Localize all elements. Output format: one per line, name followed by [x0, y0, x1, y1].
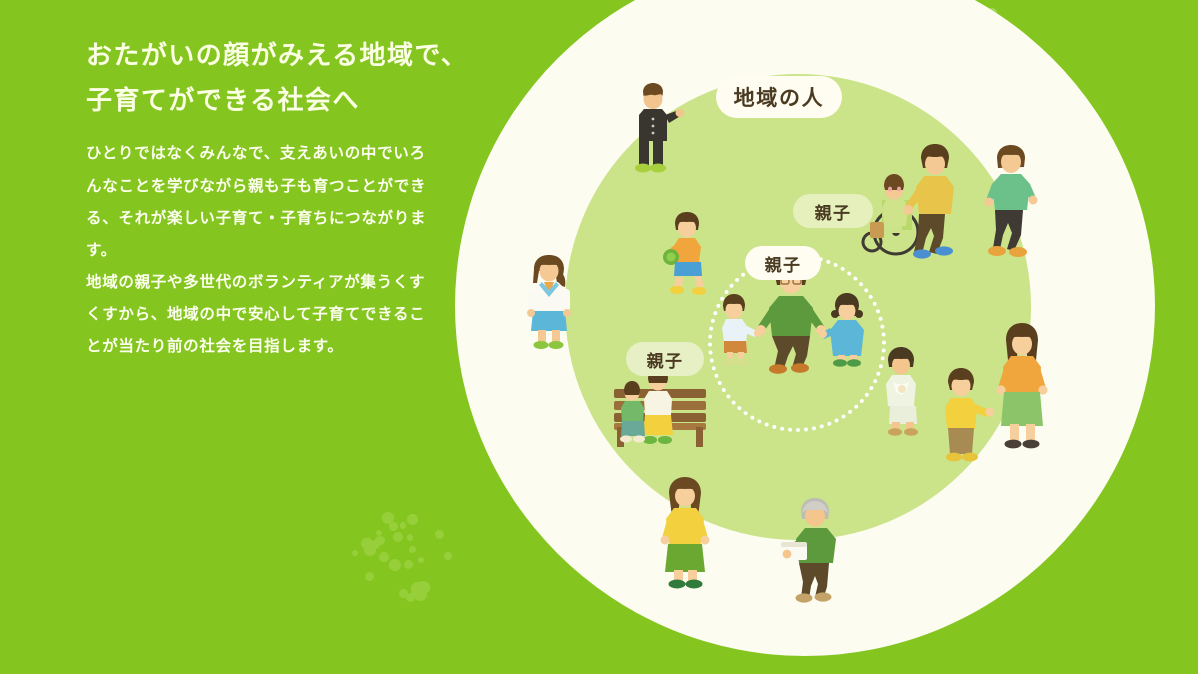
body-paragraph-2: 地域の親子や多世代のボランティアが集うくすくすから、地域の中で安心して子育てでき…: [86, 266, 438, 362]
dot-cluster-bottom-left: [345, 505, 460, 605]
headline-line-2: 子育てができる社会へ: [86, 79, 438, 124]
label-parent-child-left-text: 親子: [647, 347, 684, 372]
concentric-circle-diagram: 地域の人 親子 親子 親子: [455, 0, 1198, 674]
slide-root: おたがいの顔がみえる地域で、 子育てができる社会へ ひとりではなくみんなで、支え…: [0, 0, 1198, 674]
figure-two-people-on-bench: [608, 367, 712, 449]
body-paragraph-1: ひとりではなくみんなで、支えあいの中でいろんなことを学びながら親も子も育つことが…: [86, 137, 438, 265]
figure-adult-walking-green-shirt: [979, 144, 1045, 260]
label-parent-child-center-text: 親子: [765, 251, 802, 276]
label-parent-child-center: 親子: [745, 246, 821, 280]
figure-student-boy-uniform: [621, 82, 685, 174]
text-column: おたがいの顔がみえる地域で、 子育てができる社会へ ひとりではなくみんなで、支え…: [86, 34, 438, 362]
label-community: 地域の人: [716, 76, 842, 118]
figure-person-standing-pale-clothes: [879, 346, 931, 438]
label-parent-child-right: 親子: [793, 194, 873, 228]
label-community-text: 地域の人: [734, 82, 825, 112]
figure-child-with-ball: [663, 210, 721, 296]
body-copy: ひとりではなくみんなで、支えあいの中でいろんなことを学びながら親も子も育つことが…: [86, 137, 438, 362]
figure-elderly-person-carrying-box: [781, 496, 859, 604]
label-parent-child-left: 親子: [626, 342, 704, 376]
label-parent-child-right-text: 親子: [815, 199, 852, 224]
figure-woman-yellow-sweater: [652, 474, 718, 592]
figure-woman-orange-top-and-child: [942, 320, 1058, 464]
figure-caregiver-pushing-wheelchair: [864, 140, 984, 258]
figure-schoolgirl-sailor-uniform: [518, 251, 580, 351]
headline-line-1: おたがいの顔がみえる地域で、: [86, 34, 438, 79]
page-title: おたがいの顔がみえる地域で、 子育てができる社会へ: [86, 34, 438, 123]
